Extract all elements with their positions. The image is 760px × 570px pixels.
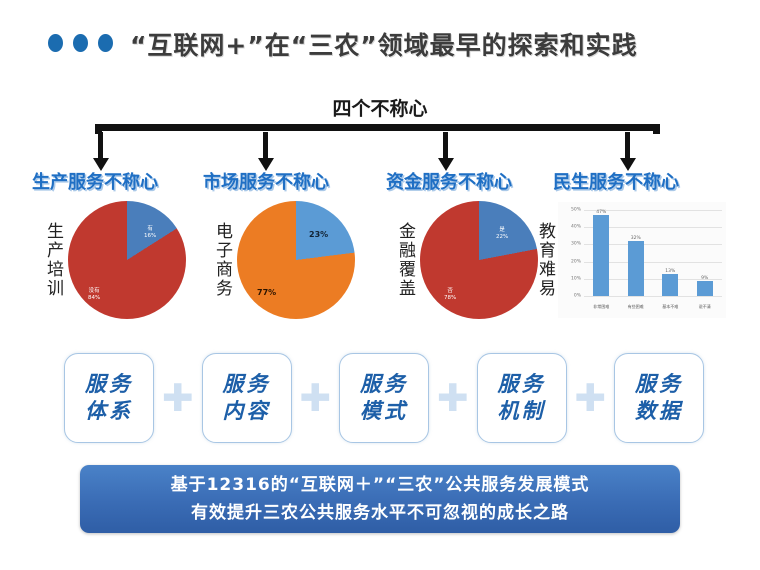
bracket-cap-right xyxy=(653,124,660,134)
chart-panel-production: 生产培训 有16% 没有84% xyxy=(36,196,196,326)
section-heading: 四个不称心 xyxy=(0,94,760,121)
chart-title-market: 电子商务 xyxy=(205,196,231,324)
pie-chart-production xyxy=(68,201,186,319)
bar-series: 47% 32% 13% 9% xyxy=(584,210,722,296)
column-label-finance: 资金服务不称心 xyxy=(386,168,512,194)
service-box-line2: 数据 xyxy=(635,398,683,424)
bracket-connector xyxy=(95,124,660,133)
chart-panel-market: 电子商务 23% 77% xyxy=(205,196,365,326)
pie-slice-label-shi: 是22% xyxy=(496,227,508,241)
bar-value-label: 32% xyxy=(631,236,641,241)
pie-slice-label-23: 23% xyxy=(309,230,328,240)
chart-title-production: 生产培训 xyxy=(36,196,62,324)
y-axis-tick: 40% xyxy=(571,225,581,230)
x-axis-tick: 有些困难 xyxy=(623,304,649,310)
down-arrow-icon xyxy=(258,132,272,171)
slide-canvas: “互联网+”在“三农”领域最早的探索和实践 四个不称心 生产服务不称心 市场服务… xyxy=(0,0,760,570)
service-box-line1: 服务 xyxy=(635,371,683,397)
slide-header: “互联网+”在“三农”领域最早的探索和实践 xyxy=(0,26,760,70)
pie-slice-label-yes: 有16% xyxy=(144,226,156,240)
bar-value-label: 47% xyxy=(596,210,606,215)
service-box-line2: 模式 xyxy=(360,398,408,424)
banner-line-1: 基于12316的“互联网＋”“三农”公共服务发展模式 xyxy=(171,471,590,499)
y-axis-tick: 50% xyxy=(571,208,581,213)
column-label-market: 市场服务不称心 xyxy=(203,168,329,194)
service-box-model[interactable]: 服务 模式 xyxy=(339,353,429,443)
summary-banner: 基于12316的“互联网＋”“三农”公共服务发展模式 有效提升三农公共服务水平不… xyxy=(80,465,680,533)
service-box-line2: 机制 xyxy=(498,398,546,424)
pie-chart-market xyxy=(237,201,355,319)
header-dots xyxy=(48,34,113,52)
down-arrow-icon xyxy=(620,132,634,171)
service-box-line1: 服务 xyxy=(498,371,546,397)
x-axis-labels: 非常困难 有些困难 基本不难 说不清 xyxy=(584,304,722,310)
service-box-system[interactable]: 服务 体系 xyxy=(64,353,154,443)
plus-icon: ✚ xyxy=(567,379,615,417)
service-box-line2: 体系 xyxy=(85,398,133,424)
bar-chart-plot-area: 50% 40% 30% 20% 10% 0% 47% 32% 13% xyxy=(584,210,722,296)
bar-rect xyxy=(662,274,678,296)
bar-item: 47% xyxy=(590,210,612,296)
bracket-bar xyxy=(95,124,660,131)
column-label-livelihood: 民生服务不称心 xyxy=(553,168,679,194)
bar-rect xyxy=(593,215,609,296)
bar-item: 32% xyxy=(625,210,647,296)
service-box-line2: 内容 xyxy=(223,398,271,424)
chart-title-finance: 金融覆盖 xyxy=(388,196,414,324)
pie-slice-label-77: 77% xyxy=(257,288,276,298)
service-box-line1: 服务 xyxy=(360,371,408,397)
y-axis-tick: 10% xyxy=(571,276,581,281)
service-box-line1: 服务 xyxy=(223,371,271,397)
service-box-content[interactable]: 服务 内容 xyxy=(202,353,292,443)
y-axis-tick: 0% xyxy=(574,294,581,299)
bar-chart-education: 50% 40% 30% 20% 10% 0% 47% 32% 13% xyxy=(558,202,726,318)
service-box-row: 服务 体系 ✚ 服务 内容 ✚ 服务 模式 ✚ 服务 机制 ✚ 服务 数据 xyxy=(64,350,704,445)
bar-rect xyxy=(697,281,713,296)
x-axis-tick: 说不清 xyxy=(692,304,718,310)
chart-panel-finance: 金融覆盖 是22% 否78% xyxy=(388,196,548,326)
bar-item: 9% xyxy=(694,210,716,296)
down-arrow-icon xyxy=(438,132,452,171)
x-axis-tick: 基本不难 xyxy=(657,304,683,310)
plus-icon: ✚ xyxy=(154,379,202,417)
banner-line-2: 有效提升三农公共服务水平不可忽视的成长之路 xyxy=(191,499,569,527)
chart-panel-education: 教育难易 50% 40% 30% 20% 10% 0% 47% xyxy=(528,196,733,326)
pie-chart-finance xyxy=(420,201,538,319)
page-title: “互联网+”在“三农”领域最早的探索和实践 xyxy=(130,26,730,62)
bar-value-label: 9% xyxy=(701,276,708,281)
pie-slice-label-fou: 否78% xyxy=(444,288,456,302)
bullet-dot-icon xyxy=(73,34,88,52)
plus-icon: ✚ xyxy=(429,379,477,417)
bar-value-label: 13% xyxy=(665,269,675,274)
service-box-line1: 服务 xyxy=(85,371,133,397)
pie-slice-label-no: 没有84% xyxy=(88,288,100,302)
chart-title-education: 教育难易 xyxy=(528,196,554,324)
bar-rect xyxy=(628,241,644,296)
bar-item: 13% xyxy=(659,210,681,296)
y-axis-tick: 20% xyxy=(571,259,581,264)
column-label-production: 生产服务不称心 xyxy=(32,168,158,194)
down-arrow-icon xyxy=(93,132,107,171)
bullet-dot-icon xyxy=(48,34,63,52)
service-box-mechanism[interactable]: 服务 机制 xyxy=(477,353,567,443)
bullet-dot-icon xyxy=(98,34,113,52)
service-box-data[interactable]: 服务 数据 xyxy=(614,353,704,443)
y-axis-tick: 30% xyxy=(571,242,581,247)
plus-icon: ✚ xyxy=(292,379,340,417)
x-axis-tick: 非常困难 xyxy=(588,304,614,310)
